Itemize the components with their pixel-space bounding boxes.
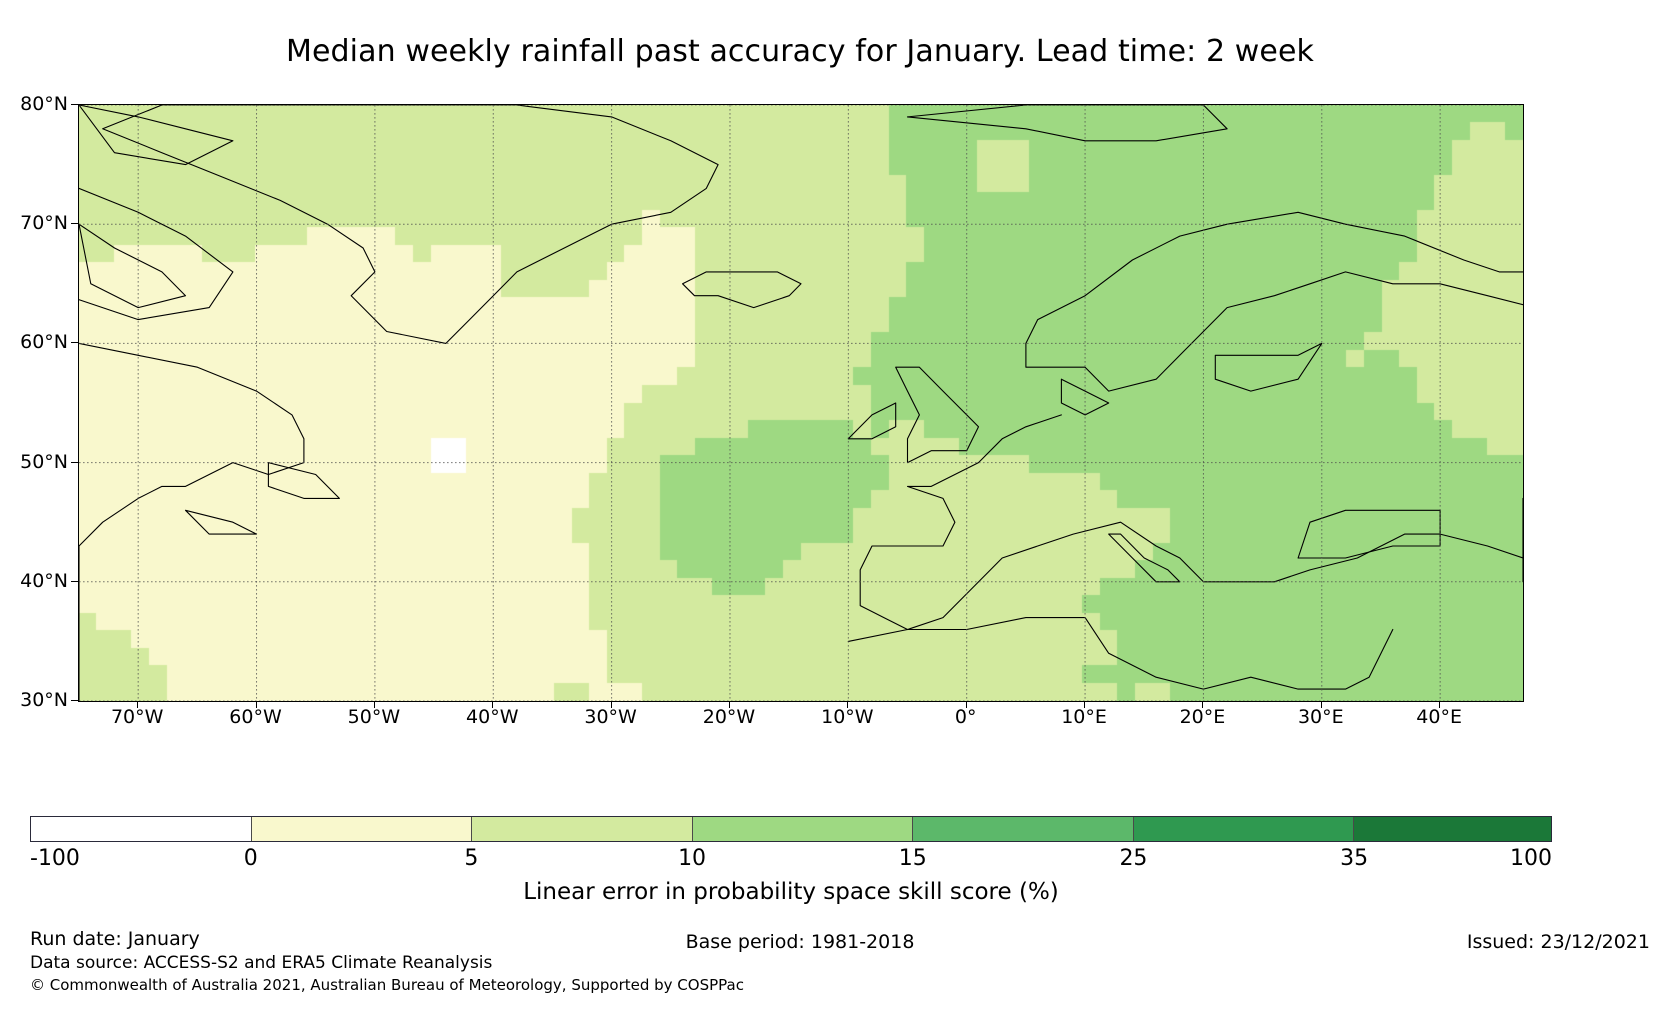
longitude-tick-label: 30°W	[584, 706, 636, 728]
latitude-tick-mark	[71, 223, 78, 224]
longitude-tick-label: 10°W	[821, 706, 873, 728]
longitude-tick-label: 20°W	[703, 706, 755, 728]
longitude-tick-mark	[1202, 701, 1203, 708]
latitude-tick-mark	[71, 581, 78, 582]
longitude-tick-label: 50°W	[348, 706, 400, 728]
longitude-tick-mark	[1321, 701, 1322, 708]
colorbar-tick-label: 15	[899, 846, 927, 871]
colorbar-tick-label: 10	[678, 846, 706, 871]
colorbar-tick-label: 35	[1340, 846, 1368, 871]
footer-copyright: © Commonwealth of Australia 2021, Austra…	[30, 976, 744, 994]
latitude-tick-label: 30°N	[20, 689, 68, 711]
longitude-tick-label: 30°E	[1298, 706, 1344, 728]
colorbar-tick-label: -100	[30, 846, 80, 871]
longitude-tick-mark	[137, 701, 138, 708]
colorbar-band[interactable]	[252, 817, 473, 841]
longitude-tick-mark	[374, 701, 375, 708]
colorbar-tick-label: 0	[244, 846, 258, 871]
footer-issued: Issued: 23/12/2021	[1467, 931, 1650, 953]
colorbar-tick-label: 100	[1510, 846, 1552, 871]
colorbar[interactable]	[30, 816, 1552, 842]
latitude-tick-mark	[71, 104, 78, 105]
figure-root: Median weekly rainfall past accuracy for…	[0, 0, 1680, 1020]
latitude-tick-label: 60°N	[20, 331, 68, 353]
latitude-tick-mark	[71, 462, 78, 463]
colorbar-label: Linear error in probability space skill …	[30, 879, 1552, 905]
latitude-tick-label: 50°N	[20, 451, 68, 473]
longitude-tick-mark	[847, 701, 848, 708]
latitude-tick-label: 70°N	[20, 212, 68, 234]
longitude-tick-mark	[611, 701, 612, 708]
footer-base-period: Base period: 1981-2018	[0, 931, 1600, 953]
latitude-tick-label: 40°N	[20, 570, 68, 592]
page-title: Median weekly rainfall past accuracy for…	[0, 34, 1600, 69]
longitude-tick-label: 10°E	[1061, 706, 1107, 728]
longitude-tick-mark	[492, 701, 493, 708]
longitude-tick-mark	[966, 701, 967, 708]
latitude-tick-label: 80°N	[20, 93, 68, 115]
longitude-tick-mark	[1084, 701, 1085, 708]
colorbar-band[interactable]	[693, 817, 914, 841]
latitude-tick-mark	[71, 700, 78, 701]
longitude-tick-label: 20°E	[1180, 706, 1226, 728]
map-axes[interactable]	[78, 104, 1524, 702]
longitude-tick-label: 0°	[955, 706, 977, 728]
colorbar-band[interactable]	[1354, 817, 1551, 841]
latitude-tick-mark	[71, 342, 78, 343]
colorbar-tick-label: 25	[1119, 846, 1147, 871]
colorbar-band[interactable]	[31, 817, 252, 841]
longitude-tick-label: 40°W	[466, 706, 518, 728]
longitude-tick-mark	[1439, 701, 1440, 708]
skill-score-heatmap	[79, 105, 1523, 701]
longitude-tick-label: 40°E	[1416, 706, 1462, 728]
longitude-tick-label: 60°W	[229, 706, 281, 728]
longitude-tick-mark	[256, 701, 257, 708]
colorbar-band[interactable]	[472, 817, 693, 841]
longitude-tick-label: 70°W	[111, 706, 163, 728]
colorbar-band[interactable]	[913, 817, 1134, 841]
colorbar-band[interactable]	[1134, 817, 1355, 841]
footer-data-source: Data source: ACCESS-S2 and ERA5 Climate …	[30, 953, 492, 973]
longitude-tick-mark	[729, 701, 730, 708]
colorbar-tick-label: 5	[464, 846, 478, 871]
